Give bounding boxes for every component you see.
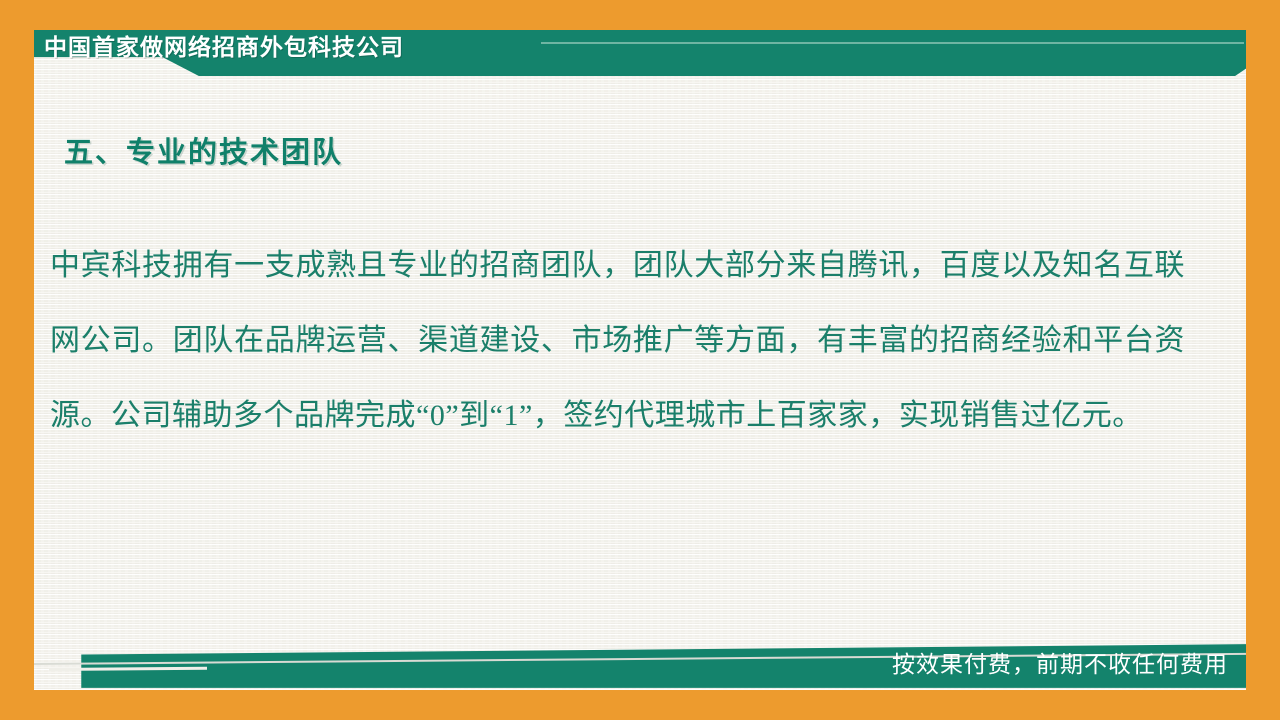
header-accent-line — [541, 42, 1244, 44]
footer-slogan: 按效果付费，前期不收任何费用 — [892, 648, 1228, 680]
body-paragraph: 中宾科技拥有一支成熟且专业的招商团队，团队大部分来自腾讯，百度以及知名互联网公司… — [50, 228, 1185, 453]
slide-footer-banner: 按效果付费，前期不收任何费用 — [34, 640, 1246, 692]
header-title: 中国首家做网络招商外包科技公司 — [44, 32, 404, 62]
section-heading: 五、专业的技术团队 — [64, 133, 343, 173]
presentation-slide: 中国首家做网络招商外包科技公司 五、专业的技术团队 中宾科技拥有一支成熟且专业的… — [0, 0, 1280, 720]
slide-header-banner: 中国首家做网络招商外包科技公司 — [34, 30, 1246, 76]
